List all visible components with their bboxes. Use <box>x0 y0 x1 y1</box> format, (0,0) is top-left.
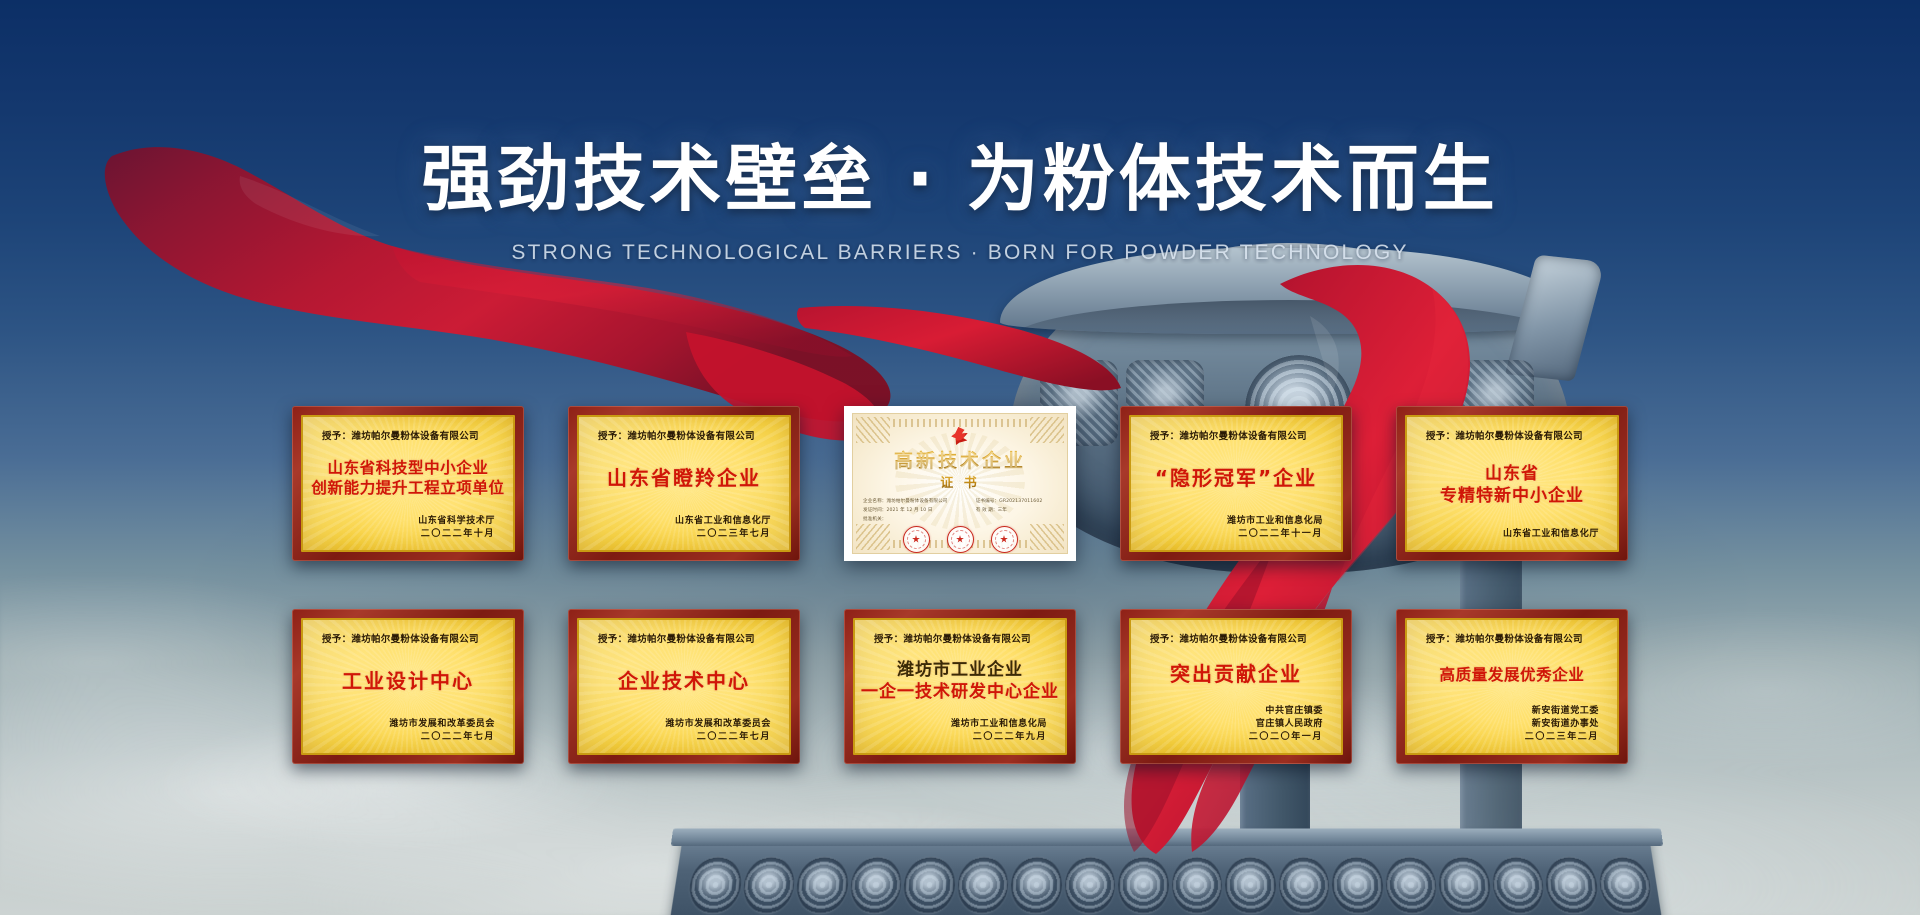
plaque-awardee: 授予：潍坊帕尔曼粉体设备有限公司 <box>1144 428 1328 442</box>
certificate-field: 批准机关： <box>863 517 970 524</box>
plaque-awardee: 授予：潍坊帕尔曼粉体设备有限公司 <box>592 631 776 645</box>
plaque-issuer: 山东省工业和信息化厅 二〇二三年七月 <box>592 515 776 541</box>
plaque-title-line: 潍坊市工业企业 <box>897 660 1023 680</box>
plaque-issuer-line: 山东省工业和信息化厅 <box>1420 528 1599 541</box>
plaque-title: 高质量发展优秀企业 <box>1420 645 1604 705</box>
plaque-date: 二〇二二年七月 <box>592 731 771 744</box>
page-subtitle: STRONG TECHNOLOGICAL BARRIERS · BORN FOR… <box>0 241 1920 265</box>
award-plaque[interactable]: 授予：潍坊帕尔曼粉体设备有限公司 企业技术中心 潍坊市发展和改革委员会 二〇二二… <box>568 609 800 764</box>
plaque-title-line: 山东省科技型中小企业 <box>327 459 488 477</box>
plaque-title-line: 创新能力提升工程立项单位 <box>311 479 504 497</box>
plaque-title: 潍坊市工业企业 一企一技术研发中心企业 <box>868 645 1052 718</box>
plaque-issuer-line: 山东省科学技术厅 <box>316 515 495 528</box>
plaque-issuer-line: 潍坊市发展和改革委员会 <box>316 718 495 731</box>
plaque-issuer-line: 山东省工业和信息化厅 <box>592 515 771 528</box>
plaque-issuer: 山东省工业和信息化厅 <box>1420 528 1604 541</box>
plaque-issuer: 中共官庄镇委 官庄镇人民政府 二〇二〇年一月 <box>1144 705 1328 744</box>
certificate-field: 证书编号：GR202137011602 <box>976 499 1050 506</box>
plaque-issuer-line: 官庄镇人民政府 <box>1144 718 1323 731</box>
plaque-awardee: 授予：潍坊帕尔曼粉体设备有限公司 <box>592 428 776 442</box>
plaque-issuer-line: 潍坊市发展和改革委员会 <box>592 718 771 731</box>
plaque-title: 山东省瞪羚企业 <box>592 442 776 515</box>
award-plaque[interactable]: 授予：潍坊帕尔曼粉体设备有限公司 突出贡献企业 中共官庄镇委 官庄镇人民政府 二… <box>1120 609 1352 764</box>
plaque-issuer-line: 中共官庄镇委 <box>1144 705 1323 718</box>
flame-emblem-icon <box>950 427 970 445</box>
plaque-date: 二〇二二年七月 <box>316 731 495 744</box>
border-flourish <box>893 419 1027 427</box>
banner-text-block: 强劲技术壁垒 · 为粉体技术而生 STRONG TECHNOLOGICAL BA… <box>0 140 1920 265</box>
plaque-title-line: 专精特新中小企业 <box>1440 486 1584 506</box>
ding-plinth-edge <box>671 828 1663 845</box>
plaque-issuer-line: 潍坊市工业和信息化局 <box>1144 515 1323 528</box>
certificate-seals <box>853 526 1067 553</box>
awards-row-2: 授予：潍坊帕尔曼粉体设备有限公司 工业设计中心 潍坊市发展和改革委员会 二〇二二… <box>0 609 1920 764</box>
plaque-issuer: 潍坊市工业和信息化局 二〇二二年十一月 <box>1144 515 1328 541</box>
plaque-title-line: 突出贡献企业 <box>1170 663 1302 687</box>
plaque-title-line: 山东省 <box>1485 464 1539 484</box>
plaque-awardee: 授予：潍坊帕尔曼粉体设备有限公司 <box>1420 428 1604 442</box>
award-plaque[interactable]: 授予：潍坊帕尔曼粉体设备有限公司 潍坊市工业企业 一企一技术研发中心企业 潍坊市… <box>844 609 1076 764</box>
official-seal-icon <box>903 526 930 553</box>
plaque-issuer: 潍坊市发展和改革委员会 二〇二二年七月 <box>592 718 776 744</box>
plaque-date: 二〇二三年七月 <box>592 528 771 541</box>
official-seal-icon <box>947 526 974 553</box>
certificate-field: 发证时间：2021 年 12 月 10 日 <box>863 508 970 515</box>
plaque-title-line: “隐形冠军”企业 <box>1155 467 1317 491</box>
award-plaque[interactable]: 授予：潍坊帕尔曼粉体设备有限公司 山东省瞪羚企业 山东省工业和信息化厅 二〇二三… <box>568 406 800 561</box>
high-tech-certificate[interactable]: 高新技术企业 证 书 企业名称：潍坊帕尔曼粉体设备有限公司 证书编号：GR202… <box>844 406 1076 561</box>
plaque-date: 二〇二二年十一月 <box>1144 528 1323 541</box>
plaque-title-line: 一企一技术研发中心企业 <box>861 682 1059 702</box>
plaque-date: 二〇二二年九月 <box>868 731 1047 744</box>
page-title: 强劲技术壁垒 · 为粉体技术而生 <box>0 140 1920 219</box>
award-plaque[interactable]: 授予：潍坊帕尔曼粉体设备有限公司 高质量发展优秀企业 新安街道党工委 新安街道办… <box>1396 609 1628 764</box>
corner-ornament-icon <box>1030 417 1064 443</box>
plaque-awardee: 授予：潍坊帕尔曼粉体设备有限公司 <box>1144 631 1328 645</box>
ding-medallion-row <box>687 853 1654 915</box>
plaque-title-line: 工业设计中心 <box>342 670 474 694</box>
award-plaque[interactable]: 授予：潍坊帕尔曼粉体设备有限公司 山东省 专精特新中小企业 山东省工业和信息化厅 <box>1396 406 1628 561</box>
plaque-awardee: 授予：潍坊帕尔曼粉体设备有限公司 <box>316 428 500 442</box>
plaque-title-line: 高质量发展优秀企业 <box>1440 666 1585 684</box>
awards-row-1: 授予：潍坊帕尔曼粉体设备有限公司 山东省科技型中小企业 创新能力提升工程立项单位… <box>0 406 1920 561</box>
plaque-title-line: 山东省瞪羚企业 <box>607 467 761 491</box>
plaque-issuer: 新安街道党工委 新安街道办事处 二〇二三年二月 <box>1420 705 1604 744</box>
certificate-subtitle: 证 书 <box>940 472 980 491</box>
plaque-issuer: 山东省科学技术厅 二〇二二年十月 <box>316 515 500 541</box>
plaque-title-line: 企业技术中心 <box>618 670 750 694</box>
official-seal-icon <box>991 526 1018 553</box>
plaque-title: 山东省 专精特新中小企业 <box>1420 442 1604 528</box>
plaque-date: 二〇二〇年一月 <box>1144 731 1323 744</box>
certificate-field: 企业名称：潍坊帕尔曼粉体设备有限公司 <box>863 499 970 506</box>
plaque-issuer-line: 潍坊市工业和信息化局 <box>868 718 1047 731</box>
award-plaque[interactable]: 授予：潍坊帕尔曼粉体设备有限公司 “隐形冠军”企业 潍坊市工业和信息化局 二〇二… <box>1120 406 1352 561</box>
hero-banner: 强劲技术壁垒 · 为粉体技术而生 STRONG TECHNOLOGICAL BA… <box>0 0 1920 915</box>
award-plaque[interactable]: 授予：潍坊帕尔曼粉体设备有限公司 山东省科技型中小企业 创新能力提升工程立项单位… <box>292 406 524 561</box>
awards-grid: 授予：潍坊帕尔曼粉体设备有限公司 山东省科技型中小企业 创新能力提升工程立项单位… <box>0 406 1920 812</box>
plaque-title: “隐形冠军”企业 <box>1144 442 1328 515</box>
corner-ornament-icon <box>856 417 890 443</box>
plaque-title: 工业设计中心 <box>316 645 500 718</box>
plaque-awardee: 授予：潍坊帕尔曼粉体设备有限公司 <box>316 631 500 645</box>
plaque-issuer-line: 新安街道党工委 <box>1420 705 1599 718</box>
plaque-title: 企业技术中心 <box>592 645 776 718</box>
certificate-field: 有 效 期：三年 <box>976 508 1050 515</box>
plaque-awardee: 授予：潍坊帕尔曼粉体设备有限公司 <box>868 631 1052 645</box>
plaque-issuer: 潍坊市发展和改革委员会 二〇二二年七月 <box>316 718 500 744</box>
award-plaque[interactable]: 授予：潍坊帕尔曼粉体设备有限公司 工业设计中心 潍坊市发展和改革委员会 二〇二二… <box>292 609 524 764</box>
plaque-title: 突出贡献企业 <box>1144 645 1328 705</box>
plaque-issuer: 潍坊市工业和信息化局 二〇二二年九月 <box>868 718 1052 744</box>
plaque-date: 二〇二三年二月 <box>1420 731 1599 744</box>
plaque-awardee: 授予：潍坊帕尔曼粉体设备有限公司 <box>1420 631 1604 645</box>
plaque-issuer-line: 新安街道办事处 <box>1420 718 1599 731</box>
plaque-date: 二〇二二年十月 <box>316 528 495 541</box>
certificate-title: 高新技术企业 <box>894 446 1026 473</box>
certificate-fields: 企业名称：潍坊帕尔曼粉体设备有限公司 证书编号：GR202137011602 发… <box>853 495 1067 524</box>
plaque-title: 山东省科技型中小企业 创新能力提升工程立项单位 <box>316 442 500 515</box>
